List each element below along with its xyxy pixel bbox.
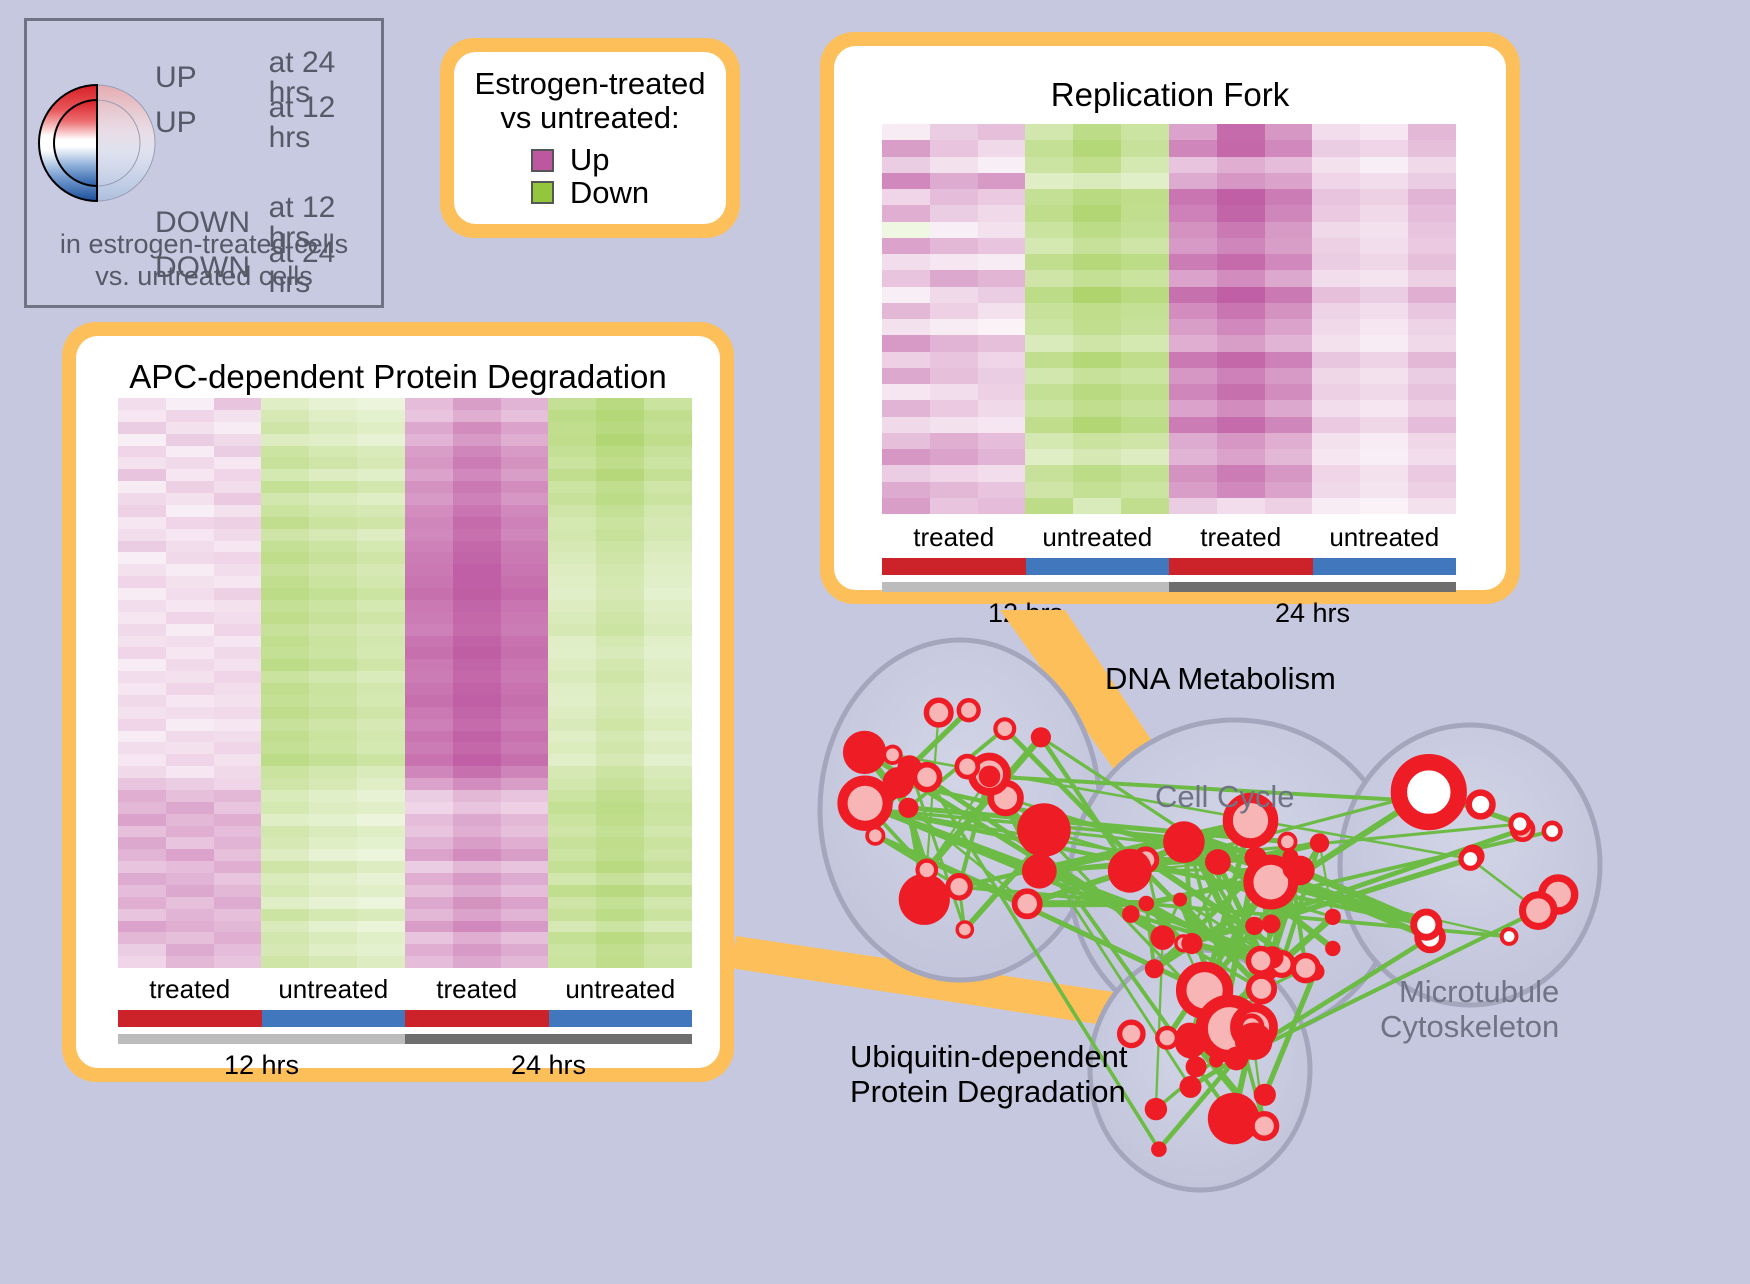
heatmap-cell <box>1121 335 1169 351</box>
heatmap-cell <box>644 434 692 446</box>
heatmap-cell <box>405 564 453 576</box>
heatmap-cell <box>882 189 930 205</box>
heatmap-cell <box>118 517 166 529</box>
color-key-direction: UP <box>155 108 269 138</box>
heatmap-cell <box>548 742 596 754</box>
heatmap-cell <box>261 731 309 743</box>
timepoint-bar-segment <box>118 1034 405 1044</box>
heatmap-cell <box>930 173 978 189</box>
network-node <box>1175 1027 1206 1058</box>
heatmap-cell <box>1073 400 1121 416</box>
heatmap-cell <box>357 493 405 505</box>
heatmap-cell <box>1217 303 1265 319</box>
heatmap-cell <box>1312 465 1360 481</box>
heatmap-cell <box>214 576 262 588</box>
heatmap-cell <box>357 814 405 826</box>
heatmap-cell <box>644 410 692 422</box>
heatmap-cell <box>930 254 978 270</box>
heatmap-cell <box>1025 352 1073 368</box>
heatmap-cell <box>214 493 262 505</box>
heatmap-cell <box>930 400 978 416</box>
heatmap-cell <box>501 932 549 944</box>
heatmap-cell <box>644 695 692 707</box>
heatmap-cell <box>453 956 501 968</box>
heatmap-cell <box>261 529 309 541</box>
heatmap-cell <box>1312 140 1360 156</box>
heatmap-cell <box>261 849 309 861</box>
heatmap-cell <box>501 541 549 553</box>
heatmap-cell <box>1360 449 1408 465</box>
heatmap-cell <box>357 481 405 493</box>
network-node <box>1205 849 1231 875</box>
heatmap-cell <box>1265 303 1313 319</box>
heatmap-cell <box>978 238 1026 254</box>
heatmap-cell <box>1073 140 1121 156</box>
treatment-bar-segment <box>1169 558 1313 575</box>
heatmap-cell <box>548 493 596 505</box>
heatmap-cell <box>261 742 309 754</box>
heatmap-cell <box>1073 498 1121 514</box>
heatmap-cell <box>309 921 357 933</box>
heatmap-cell <box>882 319 930 335</box>
heatmap-cell <box>309 552 357 564</box>
heatmap-cell <box>166 837 214 849</box>
treatment-bar-segment <box>549 1010 693 1027</box>
heatmap-cell <box>214 541 262 553</box>
heatmap-cell <box>501 457 549 469</box>
heatmap-cell <box>882 368 930 384</box>
heatmap-cell <box>261 446 309 458</box>
heatmap-cell <box>596 600 644 612</box>
heatmap-cell <box>1265 254 1313 270</box>
heatmap-cell <box>405 398 453 410</box>
heatmap-cell <box>1217 417 1265 433</box>
heatmap-cell <box>644 778 692 790</box>
heatmap-cell <box>548 576 596 588</box>
heatmap-cell <box>1265 384 1313 400</box>
heatmap-cell <box>357 790 405 802</box>
group-label: treated <box>118 974 262 1005</box>
treatment-bar-segment <box>262 1010 406 1027</box>
heatmap-cell <box>309 564 357 576</box>
heatmap-cell <box>453 612 501 624</box>
timepoint-label: 24 hrs <box>405 1050 692 1081</box>
heatmap-cell <box>118 742 166 754</box>
heatmap-cell <box>596 410 644 422</box>
heatmap-cell <box>930 319 978 335</box>
heatmap-cell <box>548 659 596 671</box>
heatmap-cell <box>501 849 549 861</box>
heatmap-cell <box>309 481 357 493</box>
heatmap-cell <box>548 481 596 493</box>
heatmap-cell <box>1408 222 1456 238</box>
heatmap-cell <box>214 398 262 410</box>
network-node <box>1502 929 1517 944</box>
heatmap-cell <box>596 885 644 897</box>
heatmap-cell <box>261 932 309 944</box>
heatmap-cell <box>882 157 930 173</box>
heatmap-cell <box>453 897 501 909</box>
heatmap-cell <box>1169 270 1217 286</box>
heatmap-cell <box>1121 384 1169 400</box>
heatmap-cell <box>644 956 692 968</box>
group-label: treated <box>882 522 1026 553</box>
heatmap-cell <box>644 529 692 541</box>
heatmap-cell <box>1312 417 1360 433</box>
heatmap-cell <box>1408 270 1456 286</box>
heatmap-cell <box>214 837 262 849</box>
heatmap-cell <box>1408 205 1456 221</box>
heatmap-cell <box>501 790 549 802</box>
heatmap-cell <box>405 636 453 648</box>
heatmap-cell <box>453 802 501 814</box>
heatmap-cell <box>166 529 214 541</box>
heatmap-cell <box>1121 449 1169 465</box>
heatmap-cell <box>405 778 453 790</box>
heatmap-cell <box>1408 189 1456 205</box>
heatmap-cell <box>118 956 166 968</box>
heatmap-cell <box>357 564 405 576</box>
heatmap-cell <box>1265 449 1313 465</box>
heatmap-cell <box>453 885 501 897</box>
heatmap-cell <box>548 778 596 790</box>
heatmap-cell <box>166 659 214 671</box>
heatmap-cell <box>1169 157 1217 173</box>
heatmap-cell <box>405 814 453 826</box>
heatmap-cell <box>1025 173 1073 189</box>
heatmap-cell <box>1265 482 1313 498</box>
treatment-bar-segment <box>882 558 1026 575</box>
heatmap-cell <box>118 885 166 897</box>
heatmap-cell <box>644 398 692 410</box>
heatmap-cell <box>1265 189 1313 205</box>
heatmap-cell <box>1265 417 1313 433</box>
heatmap-cell <box>644 921 692 933</box>
network-node <box>1150 925 1175 950</box>
heatmap-cell <box>453 493 501 505</box>
heatmap-cell <box>644 505 692 517</box>
heatmap-cell <box>214 944 262 956</box>
heatmap-cell <box>501 600 549 612</box>
heatmap-cell <box>1025 319 1073 335</box>
heatmap-cell <box>548 600 596 612</box>
heatmap-cell <box>309 897 357 909</box>
heatmap-cell <box>501 422 549 434</box>
heatmap-cell <box>118 659 166 671</box>
heatmap-cell <box>309 422 357 434</box>
heatmap-cell <box>214 683 262 695</box>
heatmap-cell <box>166 873 214 885</box>
network-graph <box>780 600 1740 1279</box>
heatmap-cell <box>261 552 309 564</box>
heatmap-cell <box>357 434 405 446</box>
heatmap-cell <box>405 766 453 778</box>
group-label: untreated <box>262 974 406 1005</box>
heatmap-cell <box>118 624 166 636</box>
heatmap-cell <box>405 481 453 493</box>
heatmap-cell <box>1121 482 1169 498</box>
heatmap-cell <box>1312 498 1360 514</box>
heatmap-cell <box>214 873 262 885</box>
heatmap-cell <box>501 624 549 636</box>
heatmap-cell <box>214 517 262 529</box>
heatmap-cell <box>1073 287 1121 303</box>
heatmap-cell <box>453 742 501 754</box>
network-label-microtubule: Microtubule Cytoskeleton <box>1380 975 1559 1044</box>
heatmap-cell <box>453 446 501 458</box>
heatmap-cell <box>214 505 262 517</box>
heatmap-cell <box>309 636 357 648</box>
heatmap-cell <box>166 909 214 921</box>
heatmap-cell <box>644 849 692 861</box>
heatmap-cell <box>978 254 1026 270</box>
heatmap-cell <box>1360 465 1408 481</box>
heatmap-cell <box>501 742 549 754</box>
heatmap-cell <box>309 683 357 695</box>
heatmap-cell <box>405 552 453 564</box>
timepoint-bar-apc <box>118 1034 692 1044</box>
heatmap-cell <box>166 849 214 861</box>
network-node <box>1262 915 1281 934</box>
heatmap-cell <box>1312 189 1360 205</box>
heatmap-cell <box>166 398 214 410</box>
heatmap-cell <box>596 695 644 707</box>
heatmap-cell <box>501 552 549 564</box>
heatmap-cell <box>1408 449 1456 465</box>
heatmap-cell <box>930 384 978 400</box>
heatmap-cell <box>453 873 501 885</box>
heatmap-cell <box>1265 157 1313 173</box>
heatmap-cell <box>405 790 453 802</box>
heatmap-cell <box>596 790 644 802</box>
heatmap-cell <box>261 647 309 659</box>
heatmap-cell <box>453 778 501 790</box>
heatmap-cell <box>1169 189 1217 205</box>
heatmap-cell <box>1073 368 1121 384</box>
heatmap-cell <box>1121 465 1169 481</box>
group-label: treated <box>1169 522 1313 553</box>
heatmap-cell <box>118 707 166 719</box>
network-node <box>1181 933 1202 954</box>
heatmap-cell <box>261 754 309 766</box>
heatmap-cell <box>644 814 692 826</box>
heatmap-cell <box>548 814 596 826</box>
heatmap-cell <box>309 647 357 659</box>
heatmap-cell <box>357 695 405 707</box>
heatmap-cell <box>501 671 549 683</box>
heatmap-cell <box>309 612 357 624</box>
heatmap-cell <box>1169 319 1217 335</box>
heatmap-cell <box>118 837 166 849</box>
network-node <box>1157 1028 1177 1048</box>
heatmap-cell <box>1360 335 1408 351</box>
color-key-row: UPat 12 hrs <box>155 100 381 145</box>
heatmap-cell <box>453 683 501 695</box>
heatmap-cell <box>1073 465 1121 481</box>
heatmap-cell <box>548 552 596 564</box>
heatmap-cell <box>1217 173 1265 189</box>
heatmap-cell <box>1217 368 1265 384</box>
network-node <box>843 781 888 826</box>
heatmap-cell <box>978 140 1026 156</box>
heatmap-cell <box>978 319 1026 335</box>
heatmap-cell <box>357 731 405 743</box>
heatmap-cell <box>930 222 978 238</box>
heatmap-cell <box>644 731 692 743</box>
heatmap-cell <box>501 505 549 517</box>
heatmap-cell <box>357 647 405 659</box>
heatmap-cell <box>644 446 692 458</box>
heatmap-cell <box>453 731 501 743</box>
heatmap-cell <box>309 707 357 719</box>
heatmap-cell <box>930 368 978 384</box>
heatmap-cell <box>214 434 262 446</box>
heatmap-cell <box>596 659 644 671</box>
heatmap-cell <box>453 457 501 469</box>
heatmap-cell <box>405 600 453 612</box>
heatmap-cell <box>1169 498 1217 514</box>
heatmap-cell <box>644 600 692 612</box>
heatmap-cell <box>1169 368 1217 384</box>
heatmap-cell <box>453 517 501 529</box>
network-node <box>899 874 950 925</box>
heatmap-cell <box>644 826 692 838</box>
heatmap-cell <box>548 636 596 648</box>
heatmap-cell <box>261 885 309 897</box>
heatmap-cell <box>978 384 1026 400</box>
heatmap-cell <box>548 802 596 814</box>
heatmap-cell <box>214 410 262 422</box>
heatmap-cell <box>501 802 549 814</box>
heatmap-cell <box>596 493 644 505</box>
heatmap-cell <box>166 624 214 636</box>
heatmap-cell <box>214 909 262 921</box>
heatmap-cell <box>214 754 262 766</box>
heatmap-cell <box>214 636 262 648</box>
color-key-caption: in estrogen-treated cells vs. untreated … <box>27 229 381 293</box>
heatmap-cell <box>644 647 692 659</box>
heatmap-cell <box>501 398 549 410</box>
heatmap-cell <box>1121 238 1169 254</box>
group-label: treated <box>405 974 549 1005</box>
heatmap-cell <box>309 802 357 814</box>
heatmap-cell <box>214 778 262 790</box>
heatmap-cell <box>644 909 692 921</box>
heatmap-cell <box>1073 173 1121 189</box>
heatmap-cell <box>1121 368 1169 384</box>
color-key-time: at 12 hrs <box>269 93 381 153</box>
heatmap-cell <box>644 719 692 731</box>
heatmap-cell <box>309 849 357 861</box>
heatmap-cell <box>166 885 214 897</box>
heatmap-cell <box>978 335 1026 351</box>
heatmap-cell <box>1312 303 1360 319</box>
heatmap-cell <box>501 897 549 909</box>
heatmap-cell <box>1265 238 1313 254</box>
heatmap-cell <box>405 909 453 921</box>
heatmap-cell <box>1025 498 1073 514</box>
heatmap-cell <box>930 433 978 449</box>
heatmap-cell <box>214 600 262 612</box>
heatmap-cell <box>214 932 262 944</box>
heatmap-cell <box>453 754 501 766</box>
heatmap-cell <box>1025 335 1073 351</box>
heatmap-cell <box>357 861 405 873</box>
heatmap-cell <box>1121 189 1169 205</box>
heatmap-cell <box>214 588 262 600</box>
network-node <box>884 747 901 764</box>
heatmap-cell <box>453 932 501 944</box>
heatmap-cell <box>978 482 1026 498</box>
color-key-caption-line1: in estrogen-treated cells <box>27 229 381 261</box>
heatmap-cell <box>405 754 453 766</box>
heatmap-cell <box>596 742 644 754</box>
heatmap-cell <box>357 956 405 968</box>
heatmap-cell <box>166 410 214 422</box>
heatmap-cell <box>405 719 453 731</box>
heatmap-cell <box>644 742 692 754</box>
heatmap-cell <box>309 410 357 422</box>
heatmap-cell <box>453 529 501 541</box>
network-node <box>1245 917 1263 935</box>
heatmap-cell <box>596 564 644 576</box>
heatmap-cell <box>644 754 692 766</box>
heatmap-cell <box>261 671 309 683</box>
heatmap-cell <box>261 826 309 838</box>
heatmap-cell <box>309 541 357 553</box>
heatmap-cell <box>405 588 453 600</box>
heatmap-cell <box>1073 303 1121 319</box>
heatmap-cell <box>357 422 405 434</box>
heatmap-cell <box>644 873 692 885</box>
heatmap-cell <box>166 695 214 707</box>
heatmap-cell <box>357 636 405 648</box>
heatmap-cell <box>261 956 309 968</box>
heatmap-cell <box>357 932 405 944</box>
heatmap-cell <box>548 754 596 766</box>
heatmap-cell <box>596 778 644 790</box>
heatmap-cell <box>453 671 501 683</box>
heatmap-cell <box>1073 157 1121 173</box>
heatmap-cell <box>1121 270 1169 286</box>
heatmap-cell <box>405 826 453 838</box>
network-node <box>1145 1098 1167 1120</box>
network-label-ubiquitin: Ubiquitin-dependent Protein Degradation <box>850 1040 1128 1109</box>
heatmap-cell <box>309 885 357 897</box>
heatmap-cell <box>118 671 166 683</box>
heatmap-cell <box>357 576 405 588</box>
heatmap-cell <box>309 873 357 885</box>
heatmap-cell <box>1121 222 1169 238</box>
treatment-bar-apc <box>118 1010 692 1027</box>
heatmap-cell <box>1408 465 1456 481</box>
heatmap-cell <box>166 778 214 790</box>
heatmap-cell <box>453 398 501 410</box>
heatmap-cell <box>930 498 978 514</box>
timepoint-bar-replication <box>882 582 1456 592</box>
heatmap-cell <box>118 446 166 458</box>
heatmap-cell <box>882 287 930 303</box>
heatmap-cell <box>357 588 405 600</box>
heatmap-cell <box>548 944 596 956</box>
heatmap-cell <box>405 861 453 873</box>
heatmap-cell <box>882 124 930 140</box>
heatmap-cell <box>596 422 644 434</box>
heatmap-cell <box>1025 157 1073 173</box>
heatmap-cell <box>1217 433 1265 449</box>
heatmap-cell <box>405 517 453 529</box>
network-node <box>959 700 979 720</box>
